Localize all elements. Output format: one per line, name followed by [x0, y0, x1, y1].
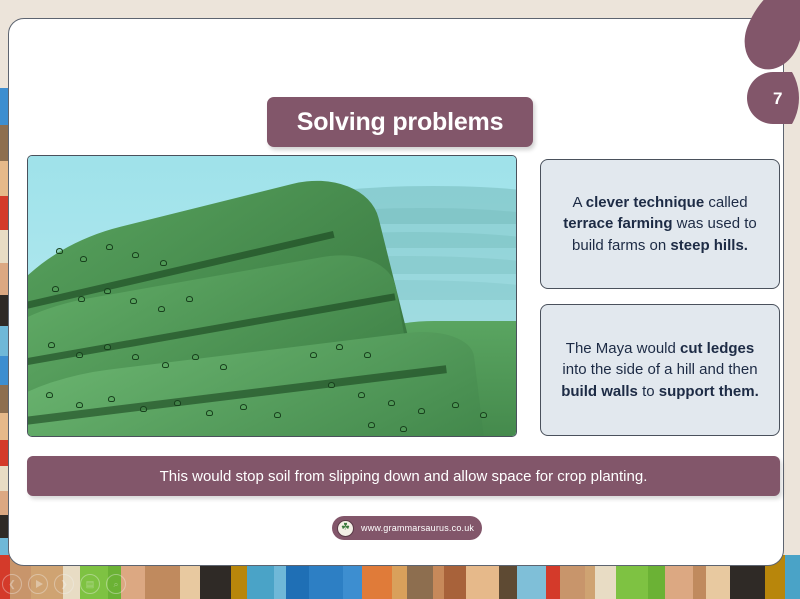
corner-leaf-decoration: [735, 0, 800, 78]
crop-mark: [368, 422, 375, 428]
page-number-badge: 7: [747, 72, 799, 124]
crop-mark: [76, 402, 83, 408]
crop-mark: [274, 412, 281, 418]
slide-card: 7 Solving problems: [8, 18, 784, 566]
crop-mark: [76, 352, 83, 358]
crop-mark: [56, 248, 63, 254]
crop-mark: [358, 392, 365, 398]
info-box-cut-ledges: The Maya would cut ledges into the side …: [540, 304, 780, 436]
crop-mark: [186, 296, 193, 302]
crop-mark: [240, 404, 247, 410]
crop-mark: [220, 364, 227, 370]
crop-mark: [132, 354, 139, 360]
crop-mark: [104, 344, 111, 350]
next-button[interactable]: ❯: [54, 574, 74, 594]
crop-mark: [336, 344, 343, 350]
crop-mark: [132, 252, 139, 258]
footer-url-label: www.grammarsaurus.co.uk: [361, 523, 474, 533]
summary-banner: This would stop soil from slipping down …: [27, 456, 780, 496]
crop-mark: [480, 412, 487, 418]
crop-mark: [78, 296, 85, 302]
play-button[interactable]: [28, 574, 48, 594]
maya-terrace-farming-illustration: [27, 155, 517, 437]
crop-mark: [388, 400, 395, 406]
crop-mark: [46, 392, 53, 398]
crop-mark: [158, 306, 165, 312]
previous-button[interactable]: ❮: [2, 574, 22, 594]
crop-mark: [48, 342, 55, 348]
play-icon: [36, 580, 43, 588]
crop-mark: [192, 354, 199, 360]
summary-banner-text: This would stop soil from slipping down …: [160, 468, 648, 485]
crop-mark: [104, 288, 111, 294]
grammarsaurus-logo-icon: ☘: [337, 520, 354, 537]
crop-mark: [52, 286, 59, 292]
crop-mark: [174, 400, 181, 406]
crop-mark: [400, 426, 407, 432]
slides-button[interactable]: ▤: [80, 574, 100, 594]
crop-mark: [108, 396, 115, 402]
info-box-clever-technique: A clever technique called terrace farmin…: [540, 159, 780, 289]
crop-mark: [452, 402, 459, 408]
strip-segment: [785, 555, 800, 599]
zoom-button[interactable]: ⌕: [106, 574, 126, 594]
grammarsaurus-footer-badge[interactable]: ☘ www.grammarsaurus.co.uk: [332, 516, 482, 540]
crop-mark: [106, 244, 113, 250]
page-number: 7: [773, 90, 782, 107]
crop-mark: [328, 382, 335, 388]
player-controls[interactable]: ❮ ❯ ▤ ⌕: [0, 571, 200, 597]
crop-mark: [160, 260, 167, 266]
info-box-2-text: The Maya would cut ledges into the side …: [553, 338, 767, 402]
crop-mark: [80, 256, 87, 262]
crop-mark: [130, 298, 137, 304]
crop-mark: [364, 352, 371, 358]
crop-mark: [162, 362, 169, 368]
info-box-1-text: A clever technique called terrace farmin…: [553, 192, 767, 256]
crop-mark: [418, 408, 425, 414]
crop-mark: [206, 410, 213, 416]
page-title: Solving problems: [297, 108, 504, 137]
crop-mark: [140, 406, 147, 412]
crop-mark: [310, 352, 317, 358]
slide-title-banner: Solving problems: [267, 97, 533, 147]
